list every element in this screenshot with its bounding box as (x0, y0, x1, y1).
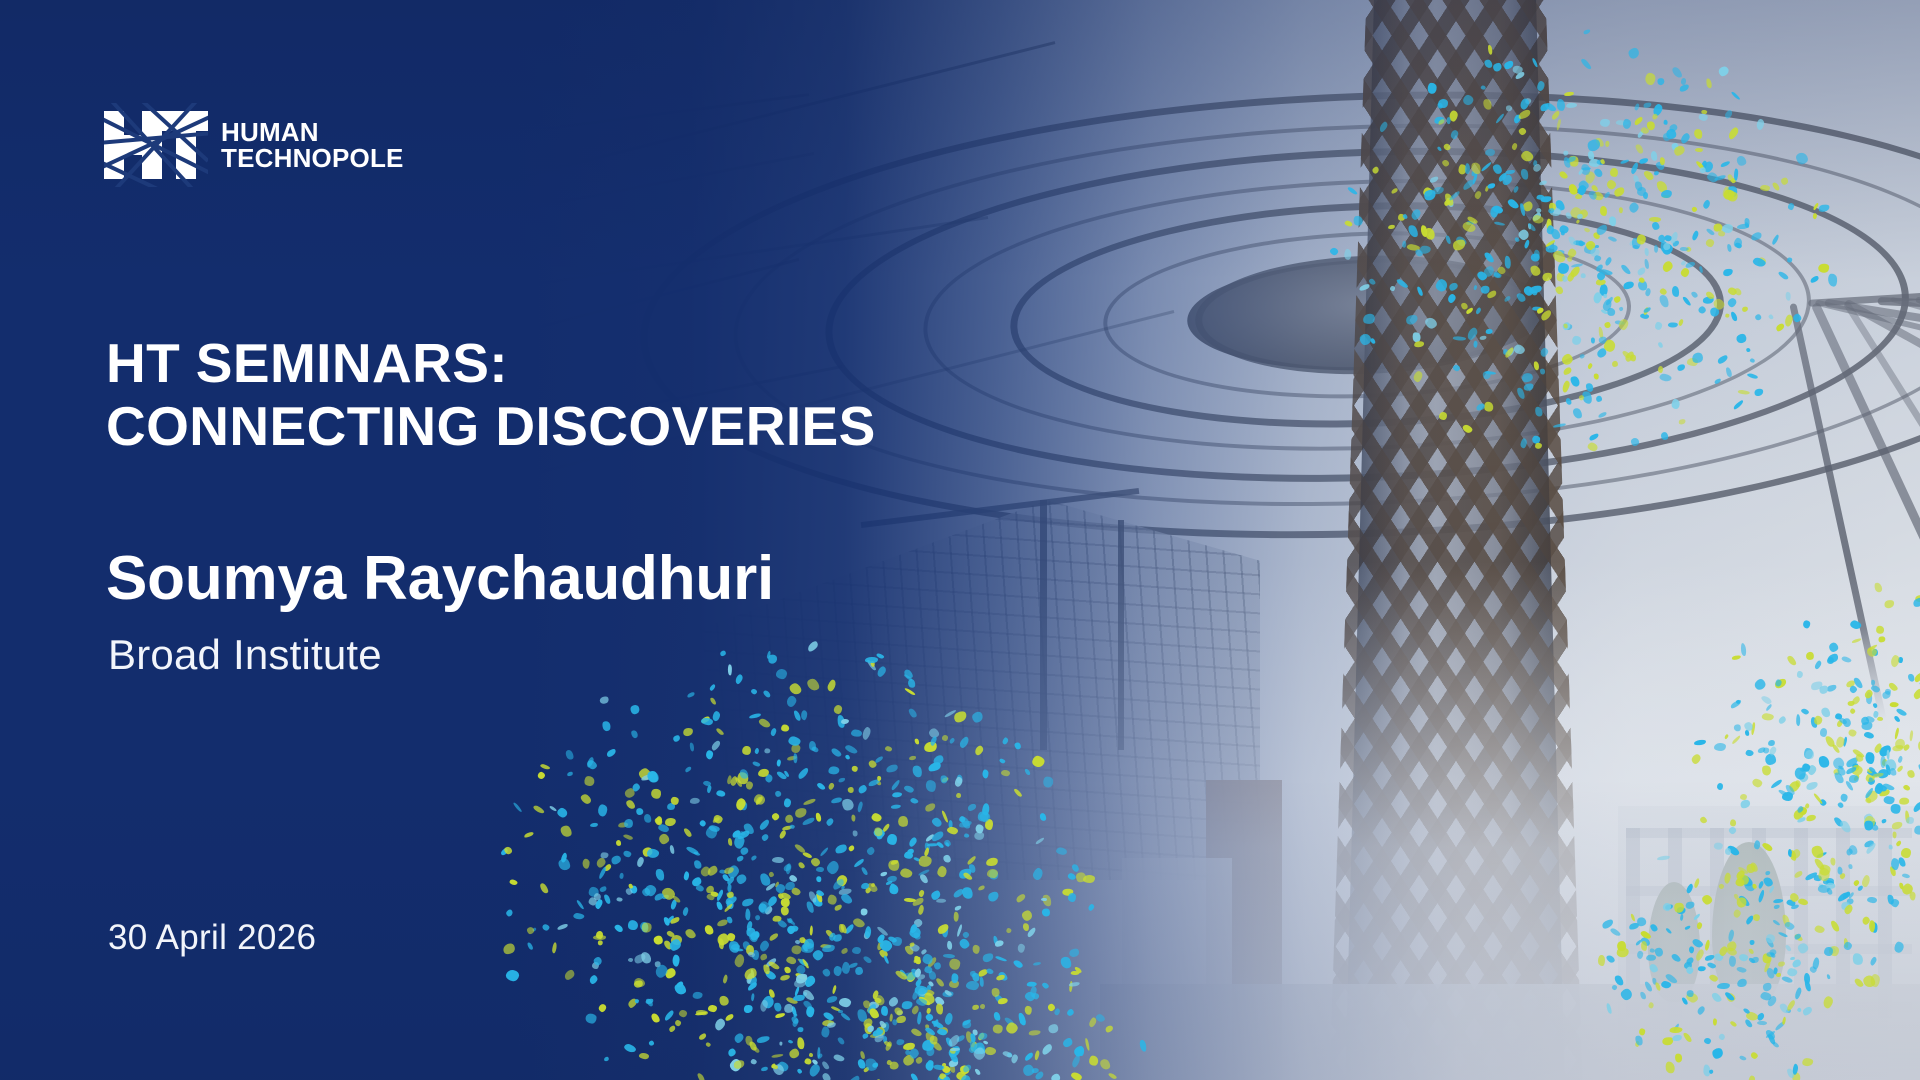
slide-headline: HT SEMINARS: CONNECTING DISCOVERIES (106, 332, 876, 457)
logo-wordmark-line1: HUMAN (221, 119, 404, 145)
ht-monogram-icon (104, 103, 208, 187)
logo-wordmark-line2: TECHNOPOLE (221, 145, 404, 171)
speaker-affiliation: Broad Institute (108, 630, 382, 680)
event-date: 30 April 2026 (108, 918, 316, 958)
logo-wordmark: HUMAN TECHNOPOLE (221, 119, 404, 171)
human-technopole-logo[interactable]: HUMAN TECHNOPOLE (104, 103, 404, 187)
seminar-announcement-slide: HUMAN TECHNOPOLE HT SEMINARS: CONNECTING… (0, 0, 1920, 1080)
headline-line-1: HT SEMINARS: (106, 332, 508, 394)
speaker-name: Soumya Raychaudhuri (106, 546, 774, 613)
headline-line-2: CONNECTING DISCOVERIES (106, 395, 876, 458)
